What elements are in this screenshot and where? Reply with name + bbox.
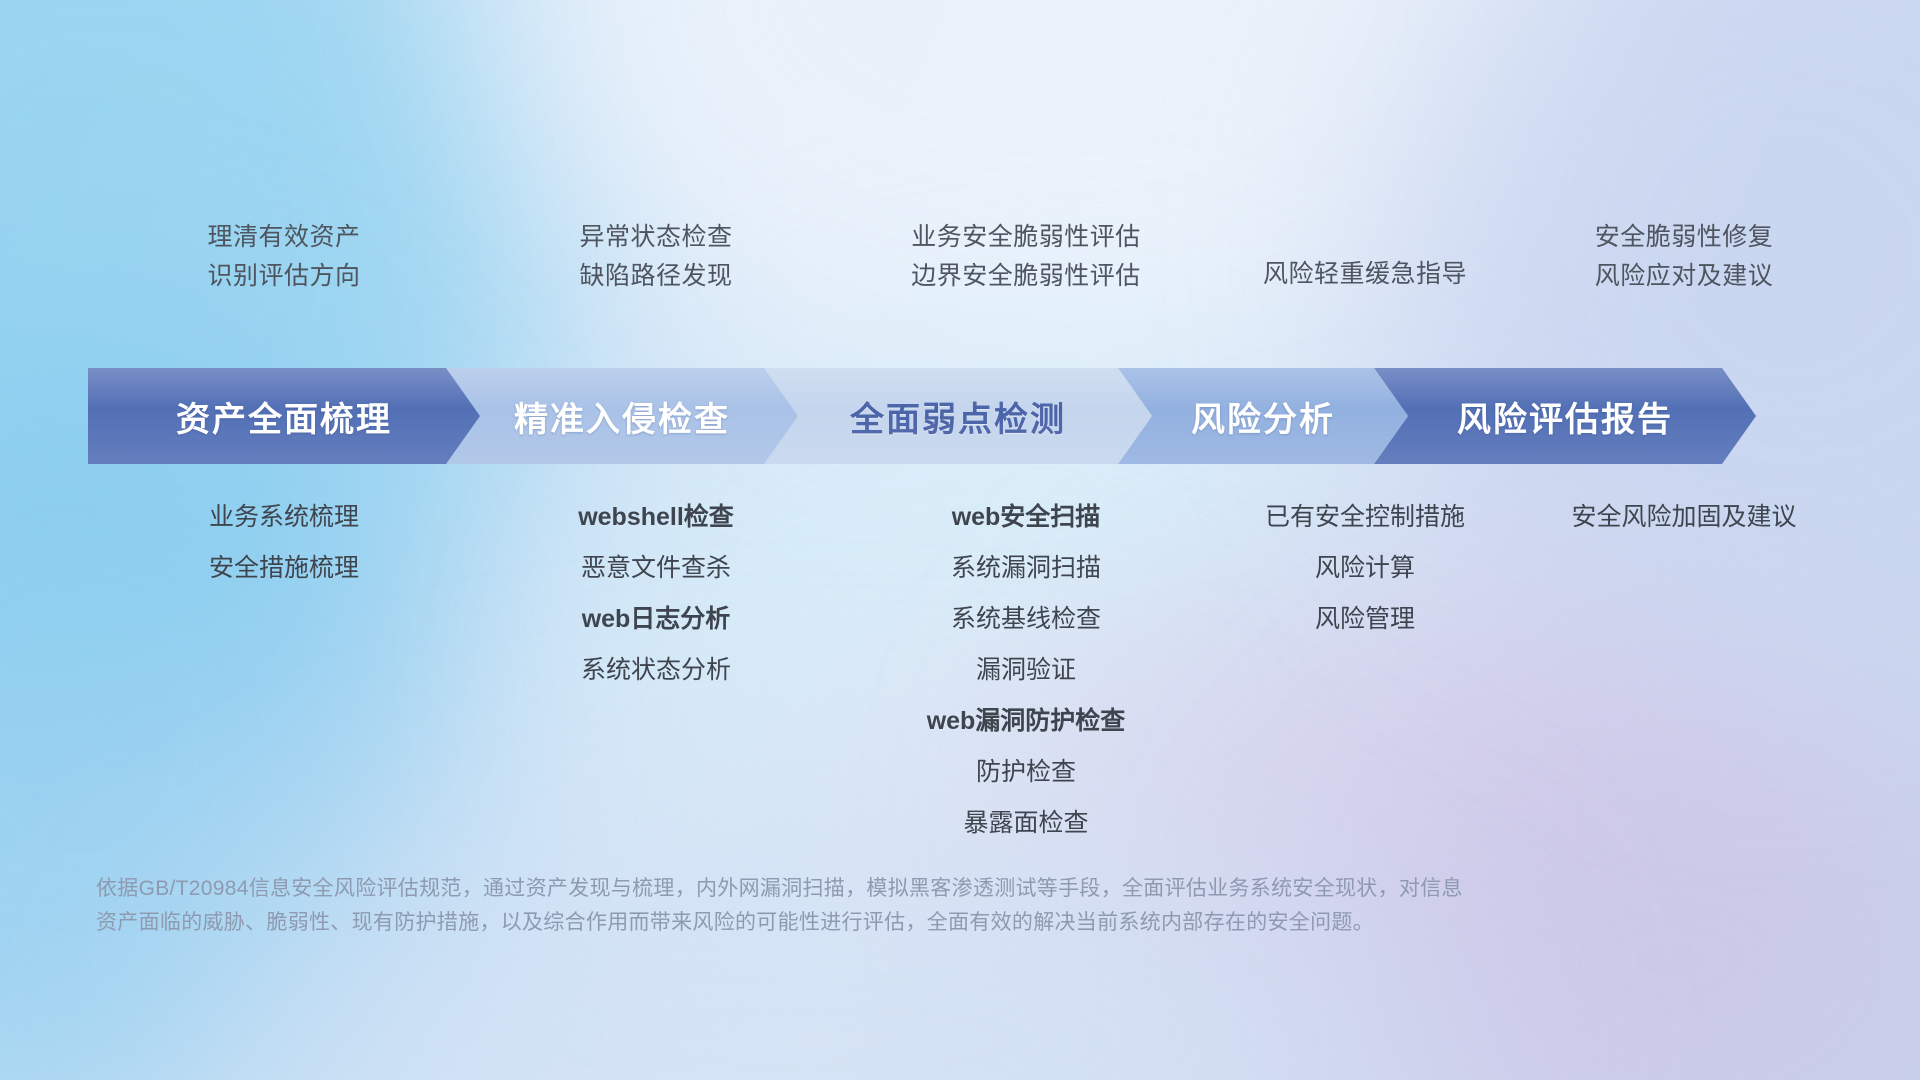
caption-line: 风险轻重缓急指导 xyxy=(1263,262,1467,287)
stage-item: 系统状态分析 xyxy=(581,658,731,683)
stage-items-intrusion-check: webshell检查恶意文件查杀web日志分析系统状态分析 xyxy=(480,505,832,835)
stage-arrow-label: 风险评估报告 xyxy=(1457,392,1673,441)
stage-item: 已有安全控制措施 xyxy=(1265,505,1465,530)
stage-captions-risk-report: 安全脆弱性修复风险应对及建议 xyxy=(1510,225,1858,335)
stage-item: web安全扫描 xyxy=(952,505,1101,530)
stage-arrow-label: 全面弱点检测 xyxy=(850,392,1066,441)
stage-captions-weakness-detection: 业务安全脆弱性评估边界安全脆弱性评估 xyxy=(832,225,1220,335)
stage-arrow-label: 风险分析 xyxy=(1191,392,1335,441)
footnote: 依据GB/T20984信息安全风险评估规范，通过资产发现与梳理，内外网漏洞扫描，… xyxy=(96,872,1736,940)
stage-item: 系统基线检查 xyxy=(951,607,1101,632)
stage-item: 风险计算 xyxy=(1315,556,1415,581)
stage-item: 暴露面检查 xyxy=(963,811,1088,836)
stage-item: 业务系统梳理 xyxy=(209,505,359,530)
caption-line: 理清有效资产 xyxy=(207,225,360,250)
stage-items-asset-inventory: 业务系统梳理安全措施梳理 xyxy=(88,505,480,835)
stage-item: web漏洞防护检查 xyxy=(927,709,1126,734)
stage-items-risk-analysis: 已有安全控制措施风险计算风险管理 xyxy=(1220,505,1510,835)
stage-items-weakness-detection: web安全扫描系统漏洞扫描系统基线检查漏洞验证web漏洞防护检查防护检查暴露面检… xyxy=(832,505,1220,835)
stage-arrow-risk-analysis[interactable]: 风险分析 xyxy=(1118,368,1408,464)
caption-line: 识别评估方向 xyxy=(207,264,360,289)
stage-item: 风险管理 xyxy=(1315,607,1415,632)
caption-line: 风险应对及建议 xyxy=(1595,264,1774,289)
caption-line: 边界安全脆弱性评估 xyxy=(911,264,1141,289)
stage-captions-intrusion-check: 异常状态检查缺陷路径发现 xyxy=(480,225,832,335)
stage-item: 安全风险加固及建议 xyxy=(1571,505,1796,530)
footnote-line-2: 资产面临的威胁、脆弱性、现有防护措施，以及综合作用而带来风险的可能性进行评估，全… xyxy=(96,906,1736,940)
stage-item: 恶意文件查杀 xyxy=(581,556,731,581)
stage-captions-risk-analysis: 风险轻重缓急指导 xyxy=(1220,225,1510,335)
caption-line: 业务安全脆弱性评估 xyxy=(911,225,1141,250)
stage-captions-asset-inventory: 理清有效资产识别评估方向 xyxy=(88,225,480,335)
caption-line: 安全脆弱性修复 xyxy=(1595,225,1774,250)
stage-item: 安全措施梳理 xyxy=(209,556,359,581)
stage-arrow-risk-report[interactable]: 风险评估报告 xyxy=(1374,368,1756,464)
stage-item: webshell检查 xyxy=(578,505,734,530)
stage-item: web日志分析 xyxy=(582,607,731,632)
stage-item: 漏洞验证 xyxy=(976,658,1076,683)
stage-arrow-weakness-detection[interactable]: 全面弱点检测 xyxy=(764,368,1152,464)
footnote-line-1: 依据GB/T20984信息安全风险评估规范，通过资产发现与梳理，内外网漏洞扫描，… xyxy=(96,872,1736,906)
stage-items-risk-report: 安全风险加固及建议 xyxy=(1510,505,1858,835)
caption-line: 异常状态检查 xyxy=(579,225,732,250)
stage-details-row: 业务系统梳理安全措施梳理webshell检查恶意文件查杀web日志分析系统状态分… xyxy=(0,505,1920,835)
stage-arrow-band: 资产全面梳理精准入侵检查全面弱点检测风险分析风险评估报告 xyxy=(88,368,1858,464)
stage-arrow-intrusion-check[interactable]: 精准入侵检查 xyxy=(446,368,798,464)
stage-arrow-asset-inventory[interactable]: 资产全面梳理 xyxy=(88,368,480,464)
stage-item: 防护检查 xyxy=(976,760,1076,785)
stage-arrow-label: 精准入侵检查 xyxy=(514,392,730,441)
risk-assessment-process-diagram: 理清有效资产识别评估方向异常状态检查缺陷路径发现业务安全脆弱性评估边界安全脆弱性… xyxy=(0,0,1920,1080)
stage-item: 系统漏洞扫描 xyxy=(951,556,1101,581)
caption-line: 缺陷路径发现 xyxy=(579,264,732,289)
stage-arrow-label: 资产全面梳理 xyxy=(176,392,392,441)
stage-captions-row: 理清有效资产识别评估方向异常状态检查缺陷路径发现业务安全脆弱性评估边界安全脆弱性… xyxy=(0,225,1920,335)
